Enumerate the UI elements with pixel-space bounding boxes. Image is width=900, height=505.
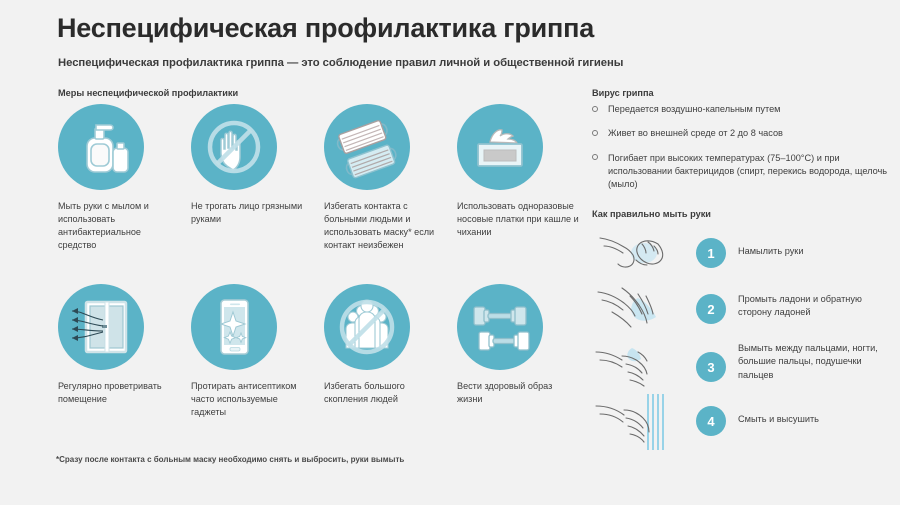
measure-item: Протирать антисептиком часто используемы…	[191, 284, 324, 419]
open-window-icon	[58, 284, 144, 370]
no-crowd-icon	[324, 284, 410, 370]
footnote: *Сразу после контакта с больным маску не…	[56, 455, 404, 464]
virus-facts-list: Передается воздушно-капельным путем Живе…	[592, 103, 897, 203]
measure-item: Использовать одноразовые носовые платки …	[457, 104, 590, 239]
hands-fingers-icon	[592, 338, 688, 394]
infographic-page: Неспецифическая профилактика гриппа Несп…	[0, 0, 900, 505]
measure-caption: Избегать большого скопления людей	[324, 380, 446, 406]
measure-caption: Мыть руки с мылом и использовать антибак…	[58, 200, 180, 252]
hands-rinse-icon	[592, 394, 688, 450]
clean-smartphone-icon	[191, 284, 277, 370]
measure-caption: Вести здоровый образ жизни	[457, 380, 579, 406]
soap-dispenser-icon	[58, 104, 144, 190]
measure-item: Избегать большого скопления людей	[324, 284, 457, 406]
list-item: Погибает при высоких температурах (75–10…	[592, 152, 897, 192]
wash-step: 3 Вымыть между пальцами, ногти, большие …	[592, 338, 897, 394]
measure-caption: Регулярно проветривать помещение	[58, 380, 180, 406]
list-item-text: Живет во внешней среде от 2 до 8 часов	[608, 128, 783, 138]
tissue-box-icon	[457, 104, 543, 190]
list-item-text: Передается воздушно-капельным путем	[608, 104, 781, 114]
bullet-circle-icon	[592, 154, 598, 160]
list-item: Живет во внешней среде от 2 до 8 часов	[592, 127, 897, 140]
measure-caption: Использовать одноразовые носовые платки …	[457, 200, 579, 239]
virus-section-label: Вирус гриппа	[592, 88, 654, 98]
measures-section-label: Меры неспецифической профилактики	[58, 88, 238, 98]
wash-step: 1 Намылить руки	[592, 226, 897, 282]
measure-caption: Избегать контакта с больными людьми и ис…	[324, 200, 446, 252]
page-subtitle: Неспецифическая профилактика гриппа — эт…	[58, 57, 623, 69]
measure-item: Мыть руки с мылом и использовать антибак…	[58, 104, 191, 252]
step-number-badge: 1	[696, 238, 726, 268]
hands-soaping-icon	[592, 226, 688, 282]
wash-steps-list: 1 Намылить руки 2 Промыть ладони и обрат…	[592, 226, 897, 450]
no-touch-face-hand-icon	[191, 104, 277, 190]
measure-item: Вести здоровый образ жизни	[457, 284, 590, 406]
medical-masks-icon	[324, 104, 410, 190]
step-number-badge: 2	[696, 294, 726, 324]
measure-caption: Протирать антисептиком часто используемы…	[191, 380, 313, 419]
dumbbells-icon	[457, 284, 543, 370]
step-text: Намылить руки	[738, 245, 898, 258]
step-number-badge: 4	[696, 406, 726, 436]
list-item-text: Погибает при высоких температурах (75–10…	[608, 153, 887, 190]
list-item: Передается воздушно-капельным путем	[592, 103, 897, 116]
hands-palms-icon	[592, 282, 688, 338]
wash-step: 2 Промыть ладони и обратную сторону ладо…	[592, 282, 897, 338]
measure-item: Не трогать лицо грязными руками	[191, 104, 324, 226]
bullet-circle-icon	[592, 106, 598, 112]
wash-step: 4 Смыть и высушить	[592, 394, 897, 450]
bullet-circle-icon	[592, 130, 598, 136]
measure-item: Избегать контакта с больными людьми и ис…	[324, 104, 457, 252]
measure-item: Регулярно проветривать помещение	[58, 284, 191, 406]
page-title: Неспецифическая профилактика гриппа	[57, 14, 594, 44]
step-number-badge: 3	[696, 352, 726, 382]
wash-hands-section-label: Как правильно мыть руки	[592, 209, 711, 219]
step-text: Промыть ладони и обратную сторону ладоне…	[738, 293, 898, 320]
measure-caption: Не трогать лицо грязными руками	[191, 200, 313, 226]
step-text: Вымыть между пальцами, ногти, большие па…	[738, 342, 898, 382]
step-text: Смыть и высушить	[738, 413, 898, 426]
